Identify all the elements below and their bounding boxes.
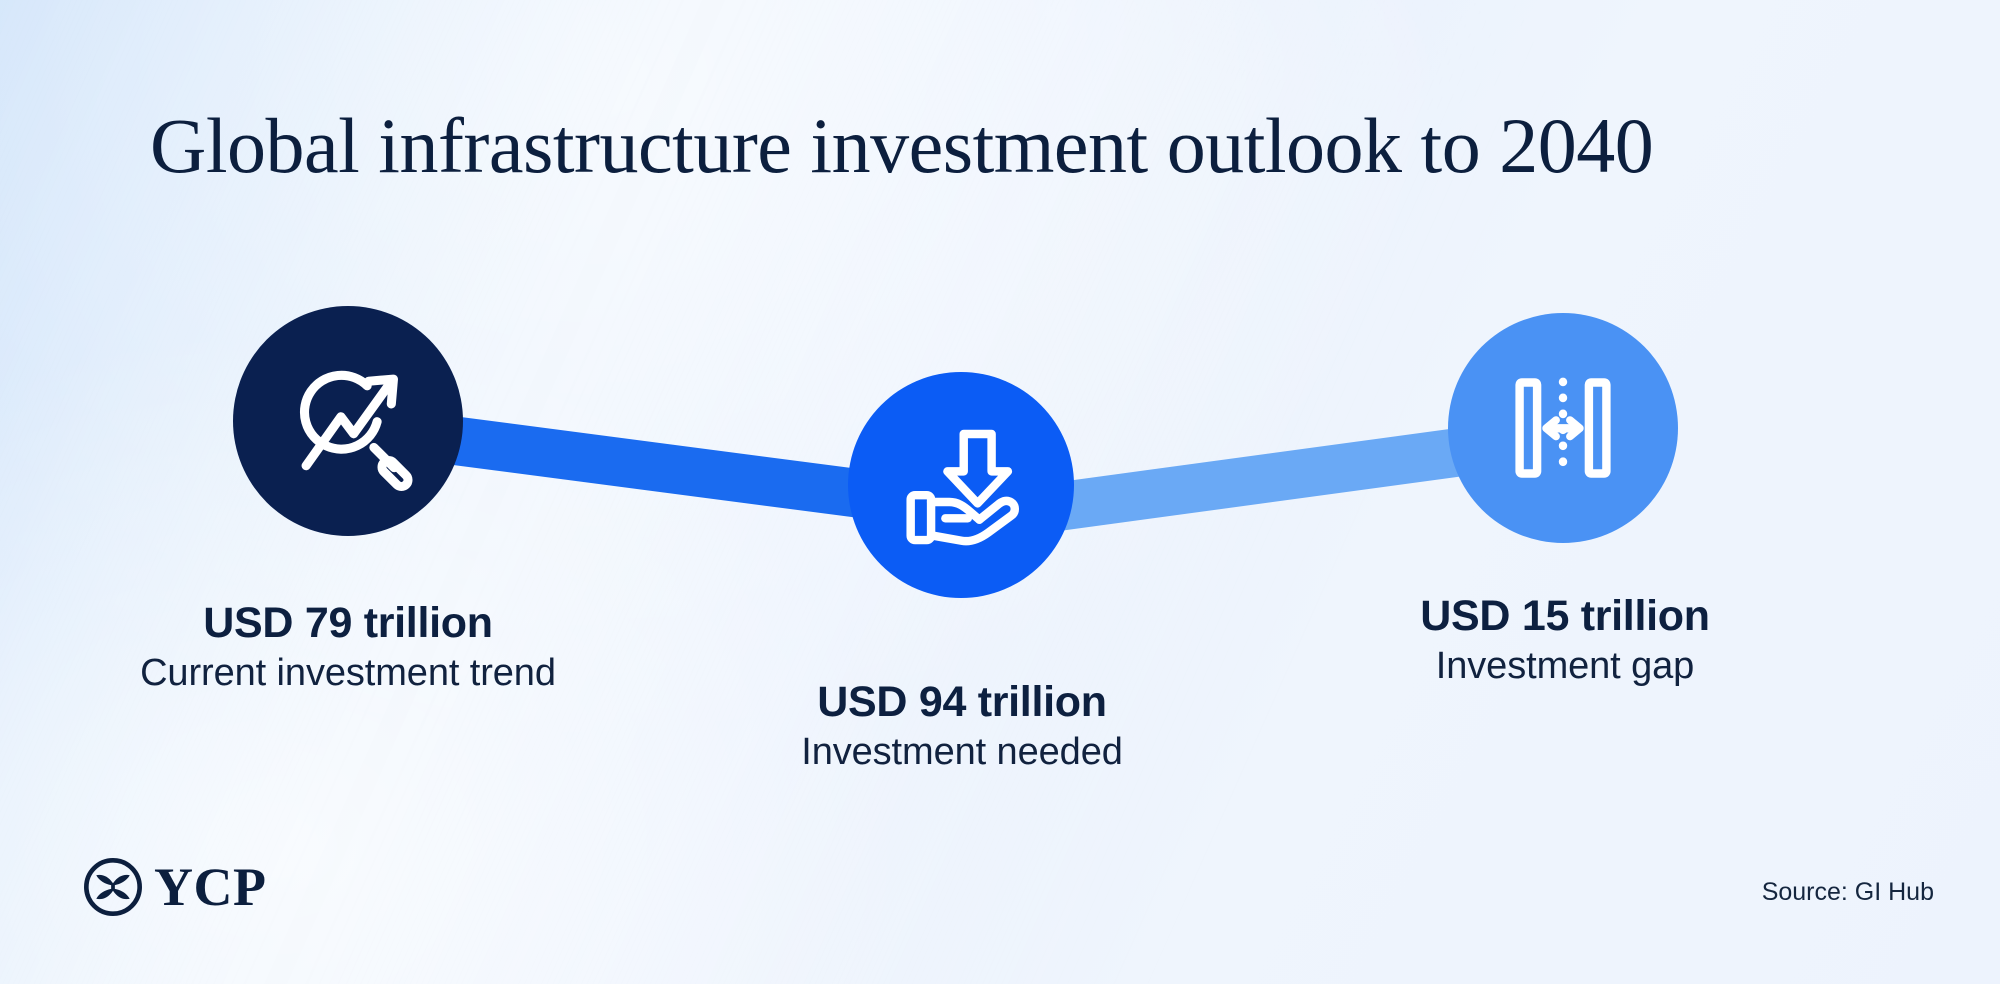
amount-investment-needed: USD 94 trillion bbox=[702, 677, 1222, 728]
label-current-investment-trend: USD 79 trillion Current investment trend bbox=[88, 598, 608, 697]
infographic-canvas: Global infrastructure investment outlook… bbox=[0, 0, 2000, 984]
ycp-circle-y-logo-icon bbox=[82, 856, 144, 918]
source-note: Source: GI Hub bbox=[1762, 878, 1934, 907]
label-investment-gap: USD 15 trillion Investment gap bbox=[1305, 591, 1825, 690]
node-investment-needed[interactable] bbox=[848, 372, 1074, 598]
node-current-investment-trend[interactable] bbox=[233, 306, 463, 536]
label-investment-needed: USD 94 trillion Investment needed bbox=[702, 677, 1222, 776]
node-investment-gap[interactable] bbox=[1448, 313, 1678, 543]
amount-investment-gap: USD 15 trillion bbox=[1305, 591, 1825, 642]
magnifier-trend-up-icon bbox=[277, 350, 419, 492]
description-current-investment-trend: Current investment trend bbox=[88, 649, 608, 698]
description-investment-needed: Investment needed bbox=[702, 728, 1222, 777]
link-trend-to-needed bbox=[430, 413, 905, 524]
gap-measure-icon bbox=[1493, 358, 1633, 498]
hand-receiving-down-arrow-icon bbox=[893, 417, 1029, 553]
ycp-logo: YCP bbox=[82, 856, 266, 918]
description-investment-gap: Investment gap bbox=[1305, 642, 1825, 691]
ycp-logo-text: YCP bbox=[154, 860, 266, 914]
amount-current-investment-trend: USD 79 trillion bbox=[88, 598, 608, 649]
